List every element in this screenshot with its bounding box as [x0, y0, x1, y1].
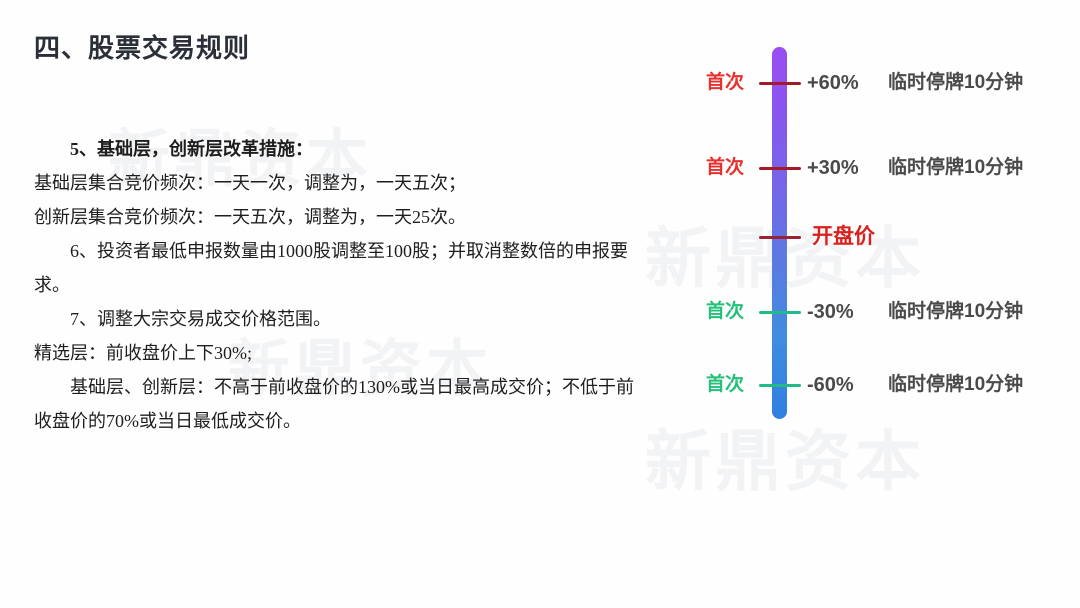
slide-canvas: 新鼎资本 新鼎资本 新鼎资本 新鼎资本 四、股票交易规则 5、基础层，创新层改革…	[0, 0, 1080, 608]
scale-row: 首次-30%临时停牌10分钟	[660, 297, 1080, 327]
scale-row: 首次+30%临时停牌10分钟	[660, 153, 1080, 183]
first-trigger-label: 首次	[706, 370, 766, 400]
body-paragraph: 5、基础层，创新层改革措施：	[34, 132, 634, 166]
tick-marker-icon	[759, 82, 801, 85]
halt-note-label: 临时停牌10分钟	[888, 153, 1023, 183]
scale-row: 开盘价	[660, 222, 1080, 252]
tick-marker-icon	[759, 236, 801, 239]
scale-row: 首次+60%临时停牌10分钟	[660, 68, 1080, 98]
body-text-block: 5、基础层，创新层改革措施：基础层集合竞价频次：一天一次，调整为，一天五次；创新…	[34, 132, 634, 438]
percent-label: -60%	[807, 370, 854, 400]
percent-label: -30%	[807, 297, 854, 327]
body-paragraph: 6、投资者最低申报数量由1000股调整至100股；并取消整数倍的申报要求。	[34, 234, 634, 302]
percent-label: +60%	[807, 68, 859, 98]
tick-marker-icon	[759, 384, 801, 387]
halt-note-label: 临时停牌10分钟	[888, 370, 1023, 400]
scale-row: 首次-60%临时停牌10分钟	[660, 370, 1080, 400]
halt-note-label: 临时停牌10分钟	[888, 68, 1023, 98]
tick-marker-icon	[759, 167, 801, 170]
percent-label: 开盘价	[812, 222, 875, 252]
body-paragraph: 7、调整大宗交易成交价格范围。	[34, 302, 634, 336]
first-trigger-label: 首次	[706, 68, 766, 98]
body-paragraph: 精选层：前收盘价上下30%;	[34, 336, 634, 370]
body-paragraph: 创新层集合竞价频次：一天五次，调整为，一天25次。	[34, 200, 634, 234]
percent-label: +30%	[807, 153, 859, 183]
halt-note-label: 临时停牌10分钟	[888, 297, 1023, 327]
body-paragraph: 基础层集合竞价频次：一天一次，调整为，一天五次；	[34, 166, 634, 200]
page-title: 四、股票交易规则	[34, 28, 250, 65]
body-paragraph: 基础层、创新层：不高于前收盘价的130%或当日最高成交价；不低于前收盘价的70%…	[34, 370, 634, 438]
first-trigger-label: 首次	[706, 297, 766, 327]
price-limit-diagram: 首次+60%临时停牌10分钟首次+30%临时停牌10分钟开盘价首次-30%临时停…	[660, 0, 1080, 608]
first-trigger-label: 首次	[706, 153, 766, 183]
tick-marker-icon	[759, 311, 801, 314]
